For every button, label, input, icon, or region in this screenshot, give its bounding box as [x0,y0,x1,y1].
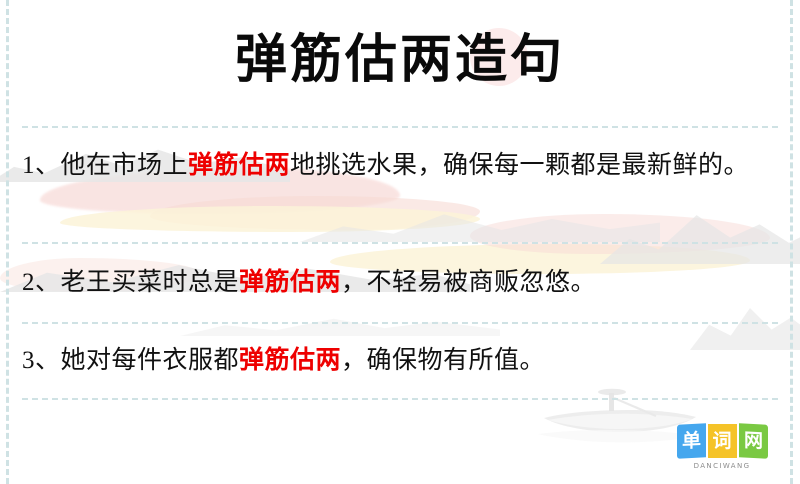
mountain-silhouette-4 [600,198,800,264]
sentence-1-keyword: 弹筋估两 [188,150,290,179]
divider-after-sentence-1 [22,242,778,244]
sentence-2-prefix: 老王买菜时总是 [61,269,240,296]
ink-wash-cream-1 [60,206,480,232]
sentence-1-suffix: 地挑选水果，确保每一颗都是最新鲜的。 [290,152,749,179]
divider-under-title [22,126,778,128]
sentence-3-suffix: ，确保物有所值。 [341,347,545,374]
example-sentence-3: 3、她对每件衣服都弹筋估两，确保物有所值。 [22,340,782,381]
logo-char-ci: 词 [708,424,737,458]
example-sentence-2: 2、老王买菜时总是弹筋估两，不轻易被商贩忽悠。 [22,262,782,303]
ink-wash-pink-3 [470,214,770,254]
divider-after-sentence-2 [22,322,778,324]
mountain-silhouette-3 [300,196,660,242]
poster-page: 弹筋估两造句 1、他在市场上弹筋估两地挑选水果，确保每一颗都是最新鲜的。 2、老… [0,0,800,484]
sentence-2-keyword: 弹筋估两 [239,267,341,296]
mountain-silhouette-6 [180,300,500,336]
ink-wash-pink-2 [150,196,480,230]
page-title: 弹筋估两造句 [0,28,800,92]
sentence-3-prefix: 她对每件衣服都 [61,347,240,374]
sentence-2-suffix: ，不轻易被商贩忽悠。 [341,269,596,296]
logo-char-dan: 单 [677,423,706,459]
logo-tiles: 单 词 网 [674,424,770,458]
sentence-1-number: 1、 [22,152,61,179]
site-logo[interactable]: 单 词 网 DANCIWANG [674,424,770,476]
sentence-3-keyword: 弹筋估两 [239,345,341,374]
logo-subtitle: DANCIWANG [674,462,770,470]
sentence-2-number: 2、 [22,269,61,296]
sentence-1-prefix: 他在市场上 [61,152,189,179]
example-sentence-1: 1、他在市场上弹筋估两地挑选水果，确保每一颗都是最新鲜的。 [22,145,782,186]
sentence-3-number: 3、 [22,347,61,374]
divider-after-sentence-3 [22,398,778,400]
logo-char-wang: 网 [739,423,768,459]
